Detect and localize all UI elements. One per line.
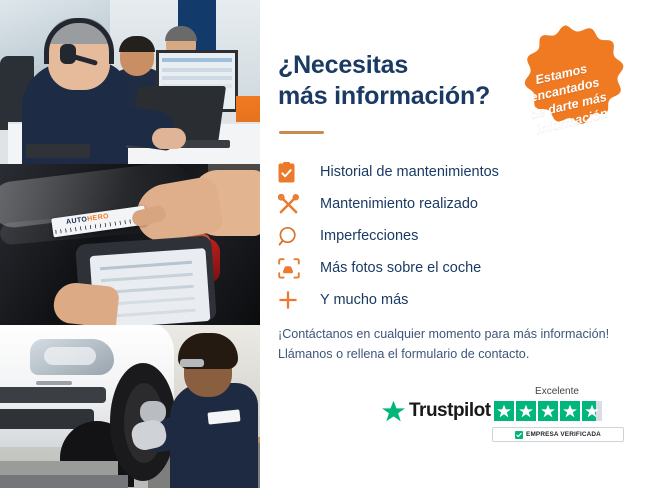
- page-title-line2: más información?: [278, 81, 528, 112]
- headlight-highlight: [44, 347, 96, 365]
- verified-business-label: EMPRESA VERIFICADA: [526, 431, 601, 438]
- wrench-screwdriver-icon: [278, 191, 312, 217]
- monitor-screen-content: [162, 58, 232, 62]
- feature-label: Mantenimiento realizado: [312, 196, 478, 212]
- feature-label: Imperfecciones: [312, 228, 418, 244]
- plus-icon: [278, 287, 312, 313]
- car-emblem: [36, 381, 72, 385]
- trustpilot-brand-label: Trustpilot: [409, 400, 491, 422]
- clipboard-check-icon: [278, 159, 312, 185]
- feature-list: Historial de mantenimientos Mantenimient…: [278, 156, 628, 316]
- photo-collage: AUTOHERO: [0, 0, 260, 488]
- call-center-agents-photo: [0, 0, 260, 164]
- feature-item-fotos[interactable]: Más fotos sobre el coche: [278, 252, 628, 284]
- car-inspection-ruler-photo: AUTOHERO: [0, 164, 260, 325]
- support-badge: Estamos encantados de darte más informac…: [499, 21, 629, 151]
- feature-item-mas[interactable]: Y mucho más: [278, 284, 628, 316]
- trustpilot-widget[interactable]: Trustpilot Excelente: [382, 386, 632, 448]
- content-panel: ¿Necesitas más información? Estamos enca…: [260, 0, 650, 488]
- car-scan-icon: [278, 255, 312, 281]
- title-divider: [279, 131, 324, 134]
- lift-base: [0, 475, 128, 488]
- star-4: [560, 401, 580, 421]
- trustpilot-star-icon: [382, 400, 405, 422]
- feature-label: Historial de mantenimientos: [312, 164, 499, 180]
- inspector-second-hand: [52, 281, 120, 325]
- star-5-partial: [582, 401, 602, 421]
- feature-item-mantenimiento[interactable]: Mantenimiento realizado: [278, 188, 628, 220]
- promo-banner: AUTOHERO: [0, 0, 650, 488]
- verified-business-badge: EMPRESA VERIFICADA: [492, 427, 624, 442]
- star-1: [494, 401, 514, 421]
- feature-label: Y mucho más: [312, 292, 408, 308]
- trustpilot-logo: Trustpilot: [382, 400, 491, 422]
- mechanic-wheel-photo: [0, 325, 260, 488]
- verified-check-icon: [515, 431, 523, 439]
- feature-item-imperfecciones[interactable]: Imperfecciones: [278, 220, 628, 252]
- feature-label: Más fotos sobre el coche: [312, 260, 481, 276]
- car-grille-upper: [0, 387, 106, 403]
- lift-platform: [0, 461, 118, 475]
- magnifier-icon: [278, 223, 312, 249]
- trustpilot-stars: [494, 401, 602, 421]
- desk-tablet: [26, 144, 90, 158]
- contact-line-1: ¡Contáctanos en cualquier momento para m…: [278, 324, 638, 344]
- contact-text: ¡Contáctanos en cualquier momento para m…: [278, 324, 638, 365]
- safety-glasses: [180, 359, 204, 367]
- star-3: [538, 401, 558, 421]
- trustpilot-rating-label: Excelente: [492, 386, 622, 397]
- contact-line-2: Llámanos o rellena el formulario de cont…: [278, 344, 638, 364]
- feature-item-historial[interactable]: Historial de mantenimientos: [278, 156, 628, 188]
- star-2: [516, 401, 536, 421]
- agent-front-hand: [152, 128, 186, 149]
